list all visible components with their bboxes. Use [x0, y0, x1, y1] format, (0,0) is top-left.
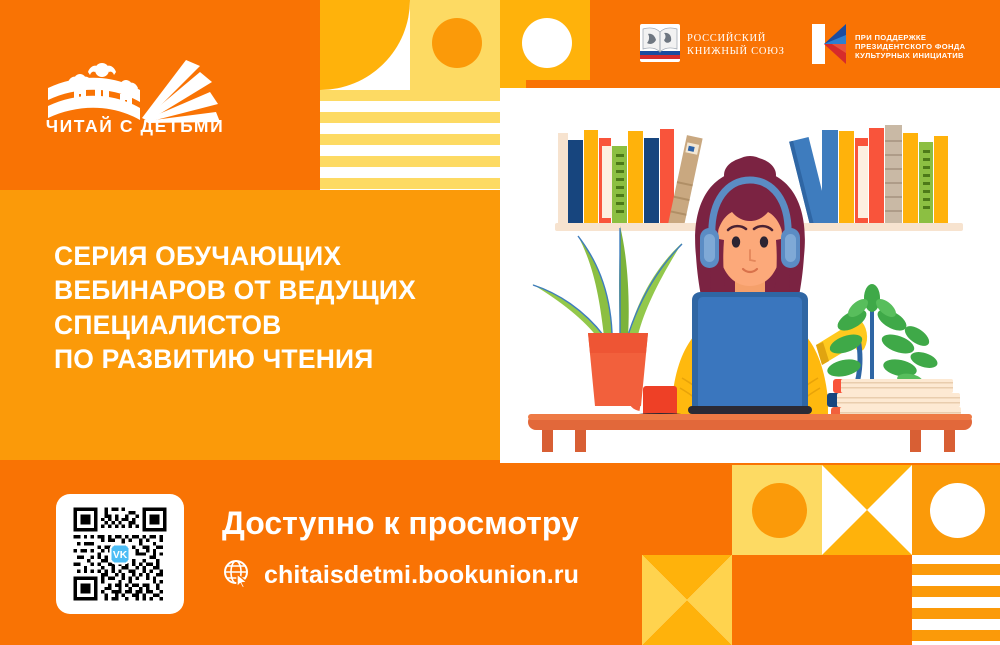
partner-russian-book-union[interactable]: РОССИЙСКИЙ КНИЖНЫЙ СОЮЗ	[640, 24, 785, 67]
partner-presidential-fund[interactable]: ПРИ ПОДДЕРЖКЕ ПРЕЗИДЕНТСКОГО ФОНДА КУЛЬТ…	[812, 24, 965, 69]
partner-line-1: ПРИ ПОДДЕРЖКЕ	[855, 33, 926, 42]
partner-label: ПРИ ПОДДЕРЖКЕ ПРЕЗИДЕНТСКОГО ФОНДА КУЛЬТ…	[855, 33, 965, 61]
deco-bottom-stripes	[912, 555, 1000, 645]
letter-k-tricolor-icon	[812, 24, 848, 69]
deco-bottom-bowtie-yellow-tile	[642, 555, 732, 645]
deco-bottom-circle-white-tile	[912, 465, 1000, 555]
brand-logo-title: ЧИТАЙ С ДЕТЬМИ	[40, 116, 230, 137]
qr-code: VK	[70, 504, 170, 604]
page-title: СЕРИЯ ОБУЧАЮЩИХ ВЕБИНАРОВ ОТ ВЕДУЩИХ СПЕ…	[54, 239, 484, 377]
headline-line-2: ВЕБИНАРОВ ОТ ВЕДУЩИХ	[54, 273, 484, 307]
cta-url-text[interactable]: chitaisdetmi.bookunion.ru	[264, 561, 579, 590]
partner-label: РОССИЙСКИЙ КНИЖНЫЙ СОЮЗ	[687, 33, 785, 59]
deco-stripes-block	[320, 90, 500, 190]
partner-line-2: ПРЕЗИДЕНТСКОГО ФОНДА	[855, 42, 965, 51]
partner-line-1: РОССИЙСКИЙ	[687, 33, 766, 44]
promotional-banner: ЧИТАЙ С ДЕТЬМИ РОССИЙСКИЙ КНИЖНЫЙ СОЮЗ	[0, 0, 1000, 645]
svg-text:VK: VK	[113, 550, 128, 561]
headline-line-4: ПО РАЗВИТИЮ ЧТЕНИЯ	[54, 342, 484, 376]
deco-circle	[752, 483, 807, 538]
deco-circle	[522, 18, 572, 68]
qr-code-card[interactable]: VK	[56, 494, 184, 614]
deco-bottom-orange-wide	[732, 555, 912, 645]
partner-line-2: КНИЖНЫЙ СОЮЗ	[687, 46, 785, 57]
deco-bottom-circle-tile	[732, 465, 822, 555]
globe-with-cursor-icon	[222, 558, 252, 593]
deco-circle-tile-white	[500, 0, 590, 90]
laptop	[688, 292, 812, 414]
deco-bottom-bowtie-tile	[822, 465, 912, 555]
deco-circle	[930, 483, 985, 538]
illustration-panel	[500, 88, 1000, 463]
partner-line-3: КУЛЬТУРНЫХ ИНИЦИАТИВ	[855, 51, 964, 60]
cta-title: Доступно к просмотру	[222, 505, 579, 542]
deco-quarter-circle-tile	[320, 0, 410, 90]
cta-url-row[interactable]: chitaisdetmi.bookunion.ru	[222, 558, 579, 593]
open-book-with-children-icon	[48, 60, 220, 123]
deco-circle-tile-amber	[410, 0, 500, 90]
deco-circle	[432, 18, 482, 68]
headline-line-3: СПЕЦИАЛИСТОВ	[54, 308, 484, 342]
headline-line-1: СЕРИЯ ОБУЧАЮЩИХ	[54, 239, 484, 273]
deco-orange-strip	[290, 90, 320, 190]
open-book-emblem-icon	[640, 24, 680, 67]
illustration-top-frame	[526, 80, 1000, 88]
